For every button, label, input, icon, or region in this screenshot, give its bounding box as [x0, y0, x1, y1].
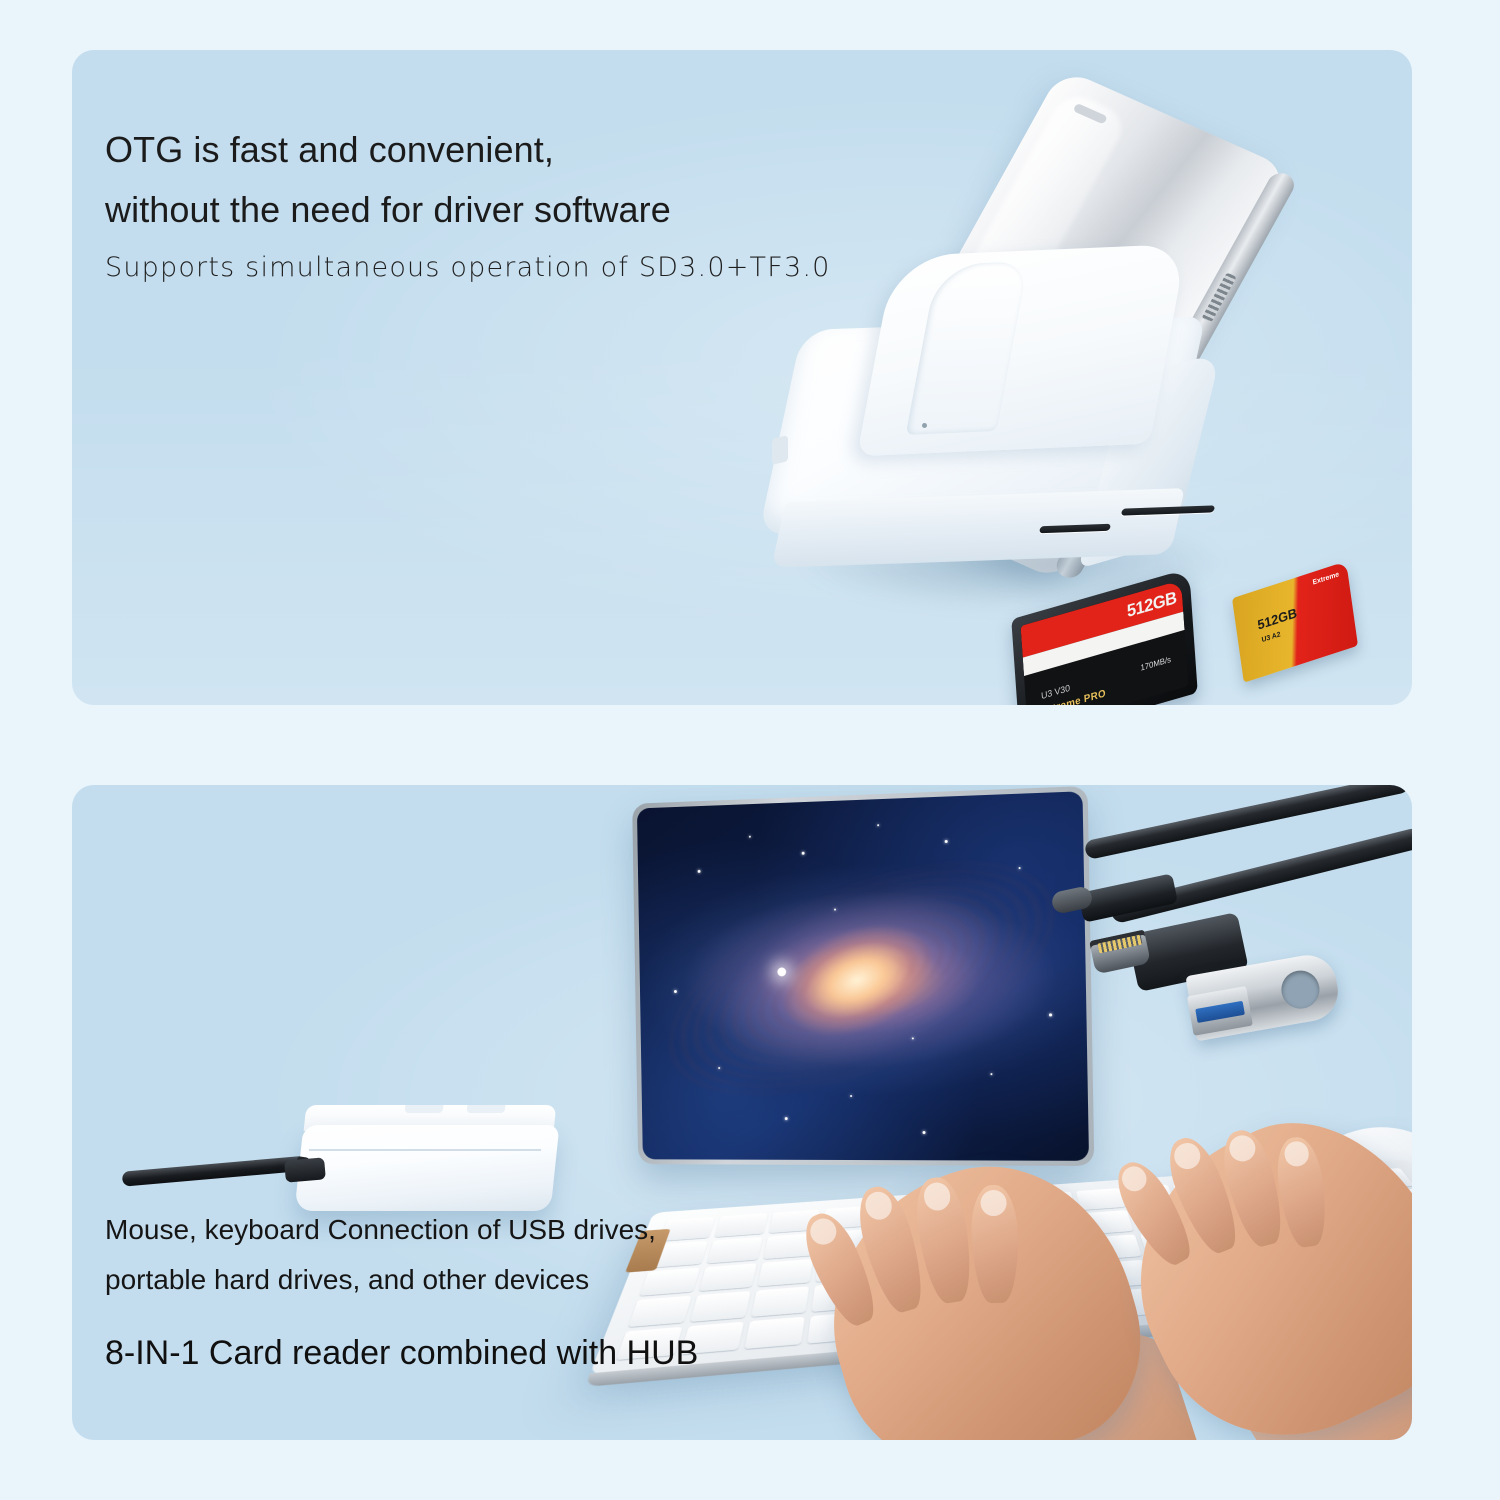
microsd-card-capacity: 512GB	[1257, 605, 1298, 633]
hub-body-line1: Mouse, keyboard Connection of USB drives…	[105, 1205, 698, 1255]
star	[749, 836, 751, 838]
keyboard-key	[744, 1316, 804, 1349]
panel-otg-feature: OTG is fast and convenient, without the …	[72, 50, 1412, 705]
otg-headline-line1: OTG is fast and convenient,	[105, 120, 830, 180]
product-feature-page: OTG is fast and convenient, without the …	[0, 0, 1500, 1500]
sd-card-speed: 170MB/s	[1140, 655, 1171, 673]
scene-hub: Mouse, keyboard Connection of USB drives…	[72, 785, 1412, 1440]
tablet-with-galaxy-wallpaper	[632, 786, 1094, 1166]
keyboard-key	[707, 1237, 762, 1263]
star	[1049, 1013, 1052, 1016]
hub-copy-block: Mouse, keyboard Connection of USB drives…	[105, 1205, 698, 1379]
microsd-card-brand: Extreme	[1312, 571, 1339, 587]
dock-tablet-cradle	[857, 244, 1187, 456]
star	[784, 1117, 787, 1120]
star	[850, 1095, 852, 1097]
dock-indicator-dot	[922, 423, 927, 428]
hub-claim: 8-IN-1 Card reader combined with HUB	[105, 1327, 698, 1379]
star	[1019, 867, 1021, 869]
dock-seam-line	[309, 1149, 541, 1151]
star	[912, 1037, 914, 1039]
star	[698, 870, 701, 873]
star	[802, 852, 805, 855]
otg-copy-block: OTG is fast and convenient, without the …	[105, 120, 830, 296]
star	[834, 909, 836, 911]
tablet-screen	[637, 791, 1089, 1161]
panel-hub-feature: Mouse, keyboard Connection of USB drives…	[72, 785, 1412, 1440]
otg-subline: Supports simultaneous operation of SD3.0…	[105, 240, 830, 296]
star	[945, 840, 948, 843]
keyboard-key	[690, 1291, 750, 1322]
dock-slot-notch-b	[467, 1105, 506, 1113]
microsd-card-class-marks: U3 A2	[1261, 631, 1281, 644]
hub-body-line2: portable hard drives, and other devices	[105, 1255, 698, 1305]
star	[877, 824, 879, 826]
keyboard-key	[699, 1263, 757, 1291]
keyboard-key	[714, 1213, 767, 1237]
dock-slot-notch-a	[405, 1105, 444, 1113]
keyboard-key	[751, 1286, 809, 1316]
white-8-in-1-dock	[772, 305, 1242, 615]
keyboard-key	[757, 1259, 812, 1287]
dock-front-face-bottom	[294, 1125, 559, 1211]
star	[990, 1073, 992, 1075]
star	[922, 1131, 925, 1134]
bright-star	[777, 967, 786, 976]
dock-left-port	[772, 435, 788, 464]
scene-otg: OTG is fast and convenient, without the …	[72, 50, 1412, 705]
otg-headline-line2: without the need for driver software	[105, 180, 830, 240]
star	[674, 990, 677, 993]
dock-cable-plug	[284, 1157, 326, 1182]
